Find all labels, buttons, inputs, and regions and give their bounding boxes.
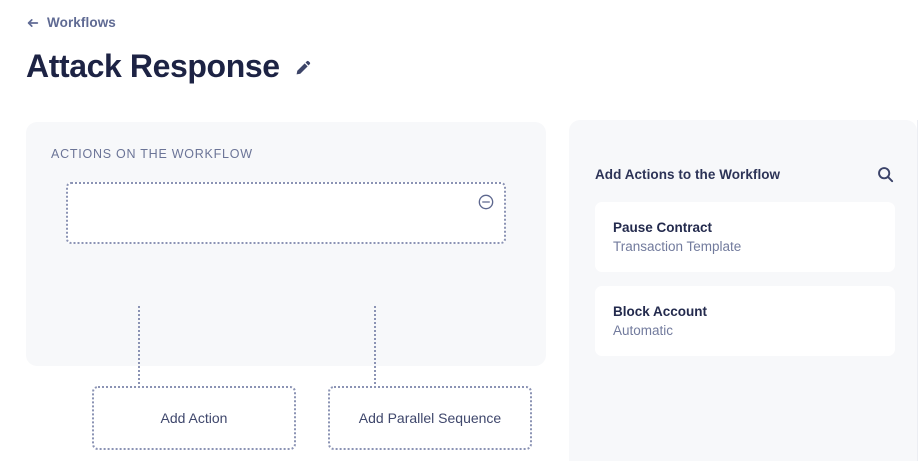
add-action-label: Add Action <box>161 410 228 426</box>
add-parallel-sequence-label: Add Parallel Sequence <box>359 410 501 426</box>
arrow-left-icon <box>26 16 40 30</box>
action-card-subtitle: Transaction Template <box>613 239 741 254</box>
breadcrumb-workflows[interactable]: Workflows <box>26 15 116 30</box>
workflow-editor-page: Workflows Attack Response ACTIONS ON THE… <box>0 0 922 461</box>
pencil-icon[interactable] <box>294 59 312 77</box>
action-library-header: Add Actions to the Workflow <box>595 165 895 184</box>
section-label-actions-on-workflow: ACTIONS ON THE WORKFLOW <box>51 147 253 161</box>
search-icon[interactable] <box>876 165 895 184</box>
action-card-name: Pause Contract <box>613 220 712 235</box>
add-parallel-sequence-button[interactable]: Add Parallel Sequence <box>328 386 532 450</box>
connector-line-left <box>138 306 140 384</box>
action-library-title: Add Actions to the Workflow <box>595 167 780 182</box>
add-action-button[interactable]: Add Action <box>92 386 296 450</box>
action-card-name: Block Account <box>613 304 707 319</box>
breadcrumb-label: Workflows <box>47 15 116 30</box>
page-title: Attack Response <box>26 45 280 87</box>
minus-circle-icon[interactable] <box>477 193 495 211</box>
action-card[interactable]: Block Account Automatic <box>595 286 895 356</box>
connector-line-right <box>374 306 376 384</box>
action-card[interactable]: Pause Contract Transaction Template <box>595 202 895 272</box>
action-library-panel: Add Actions to the Workflow Pause Contra… <box>569 120 917 461</box>
panel-divider <box>917 120 918 461</box>
workflow-root-node[interactable] <box>66 182 506 244</box>
page-title-row: Attack Response <box>26 45 312 87</box>
action-card-subtitle: Automatic <box>613 323 673 338</box>
workflow-canvas-panel: ACTIONS ON THE WORKFLOW Add Action Add P… <box>26 122 546 366</box>
